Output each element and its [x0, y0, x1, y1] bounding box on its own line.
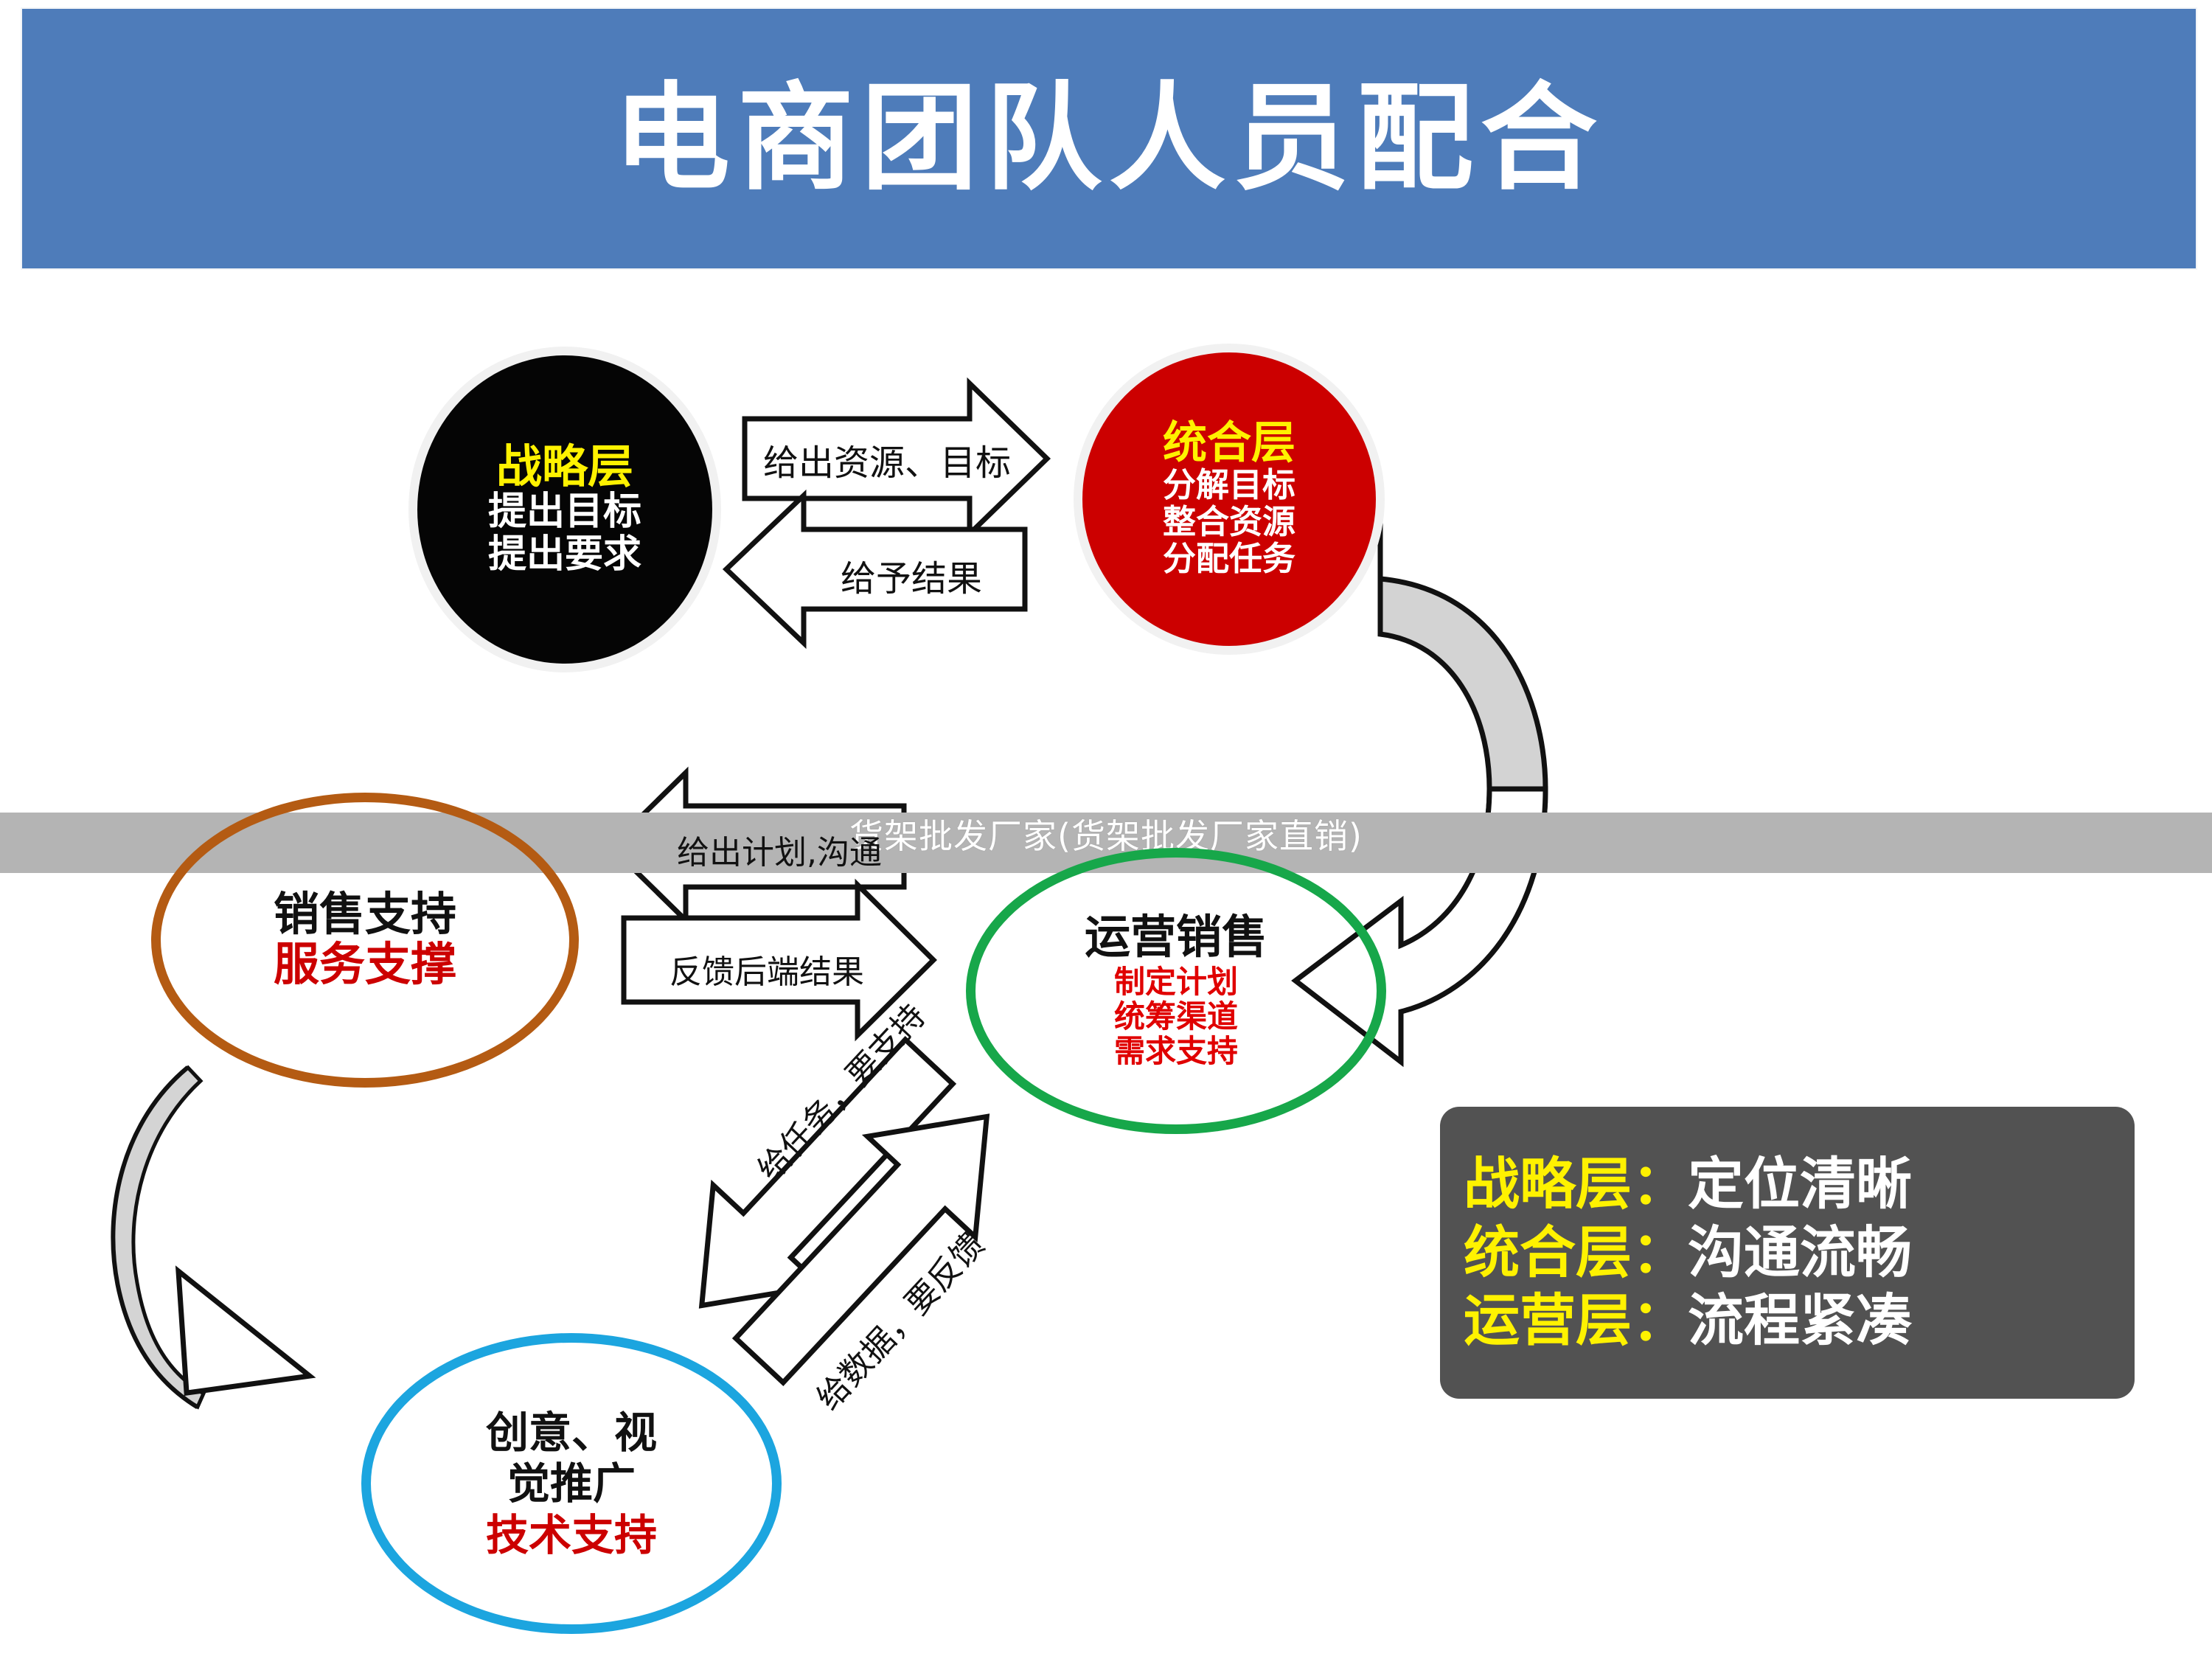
node-operations-sales[interactable]: 运营销售 制定计划 统筹渠道 需求支持 — [966, 848, 1386, 1134]
legend-row: 运营层： 流程紧凑 — [1464, 1287, 2111, 1355]
node-integration-line2: 整合资源 — [1163, 504, 1295, 540]
node-sales-line1: 服务支撑 — [274, 939, 456, 990]
arrow-label-creative-to-operations: 给数据，要反馈 — [804, 1220, 993, 1419]
node-sales-title: 销售支持 — [274, 891, 456, 938]
node-creative-visual[interactable]: 创意、视 觉推广 技术支持 — [361, 1333, 782, 1634]
node-operations-title: 运营销售 — [1085, 914, 1267, 961]
node-strategy-layer[interactable]: 战略层 提出目标 提出要求 — [417, 355, 712, 664]
node-operations-line3: 需求支持 — [1114, 1034, 1238, 1068]
node-creative-line1: 技术支持 — [486, 1512, 657, 1559]
node-integration-line3: 分配任务 — [1163, 540, 1295, 577]
node-operations-line2: 统筹渠道 — [1114, 999, 1238, 1034]
node-creative-title-a: 创意、视 — [486, 1408, 657, 1458]
legend-value: 流程紧凑 — [1688, 1287, 1912, 1355]
node-strategy-line2: 提出要求 — [488, 533, 641, 576]
node-integration-title: 统合层 — [1163, 420, 1295, 466]
page-title: 电商团队人员配合 — [22, 9, 2196, 268]
legend-row: 战略层： 定位清晰 — [1464, 1150, 2111, 1219]
legend-key: 统合层： — [1464, 1219, 1688, 1287]
legend-key: 运营层： — [1464, 1287, 1688, 1355]
node-strategy-line1: 提出目标 — [488, 490, 641, 533]
node-operations-line1: 制定计划 — [1114, 964, 1238, 999]
legend-value: 定位清晰 — [1688, 1150, 1912, 1219]
node-strategy-title: 战略层 — [496, 443, 633, 490]
arrow-label-strategy-to-integration: 给出资源、目标 — [763, 434, 1011, 485]
legend-panel: 战略层： 定位清晰 统合层： 沟通流畅 运营层： 流程紧凑 — [1440, 1107, 2135, 1399]
legend-row: 统合层： 沟通流畅 — [1464, 1219, 2111, 1287]
node-integration-layer[interactable]: 统合层 分解目标 整合资源 分配任务 — [1082, 352, 1376, 646]
legend-value: 沟通流畅 — [1688, 1219, 1912, 1287]
curved-arrow-sales-to-creative-head — [161, 1271, 321, 1410]
node-integration-line1: 分解目标 — [1163, 467, 1295, 504]
curved-arrow-sales-to-creative — [114, 1068, 198, 1407]
arrow-label-sales-to-operations: 反馈后端结果 — [669, 945, 864, 992]
node-creative-title-b: 觉推广 — [507, 1458, 636, 1509]
title-banner: 电商团队人员配合 — [22, 9, 2196, 268]
arrow-label-integration-to-strategy: 给予结果 — [841, 549, 982, 601]
arrow-label-operations-to-sales: 给出计划,沟通 — [677, 826, 882, 873]
curved-arrow-sales-to-creative-fill — [114, 1068, 204, 1407]
legend-key: 战略层： — [1464, 1150, 1688, 1219]
arrow-label-operations-to-creative: 给任务，要支持 — [745, 992, 934, 1190]
node-sales-support[interactable]: 销售支持 服务支撑 — [151, 793, 579, 1088]
slide-canvas: 电商团队人员配合 战略层 提出目标 提出要求 统合 — [0, 0, 2212, 1659]
